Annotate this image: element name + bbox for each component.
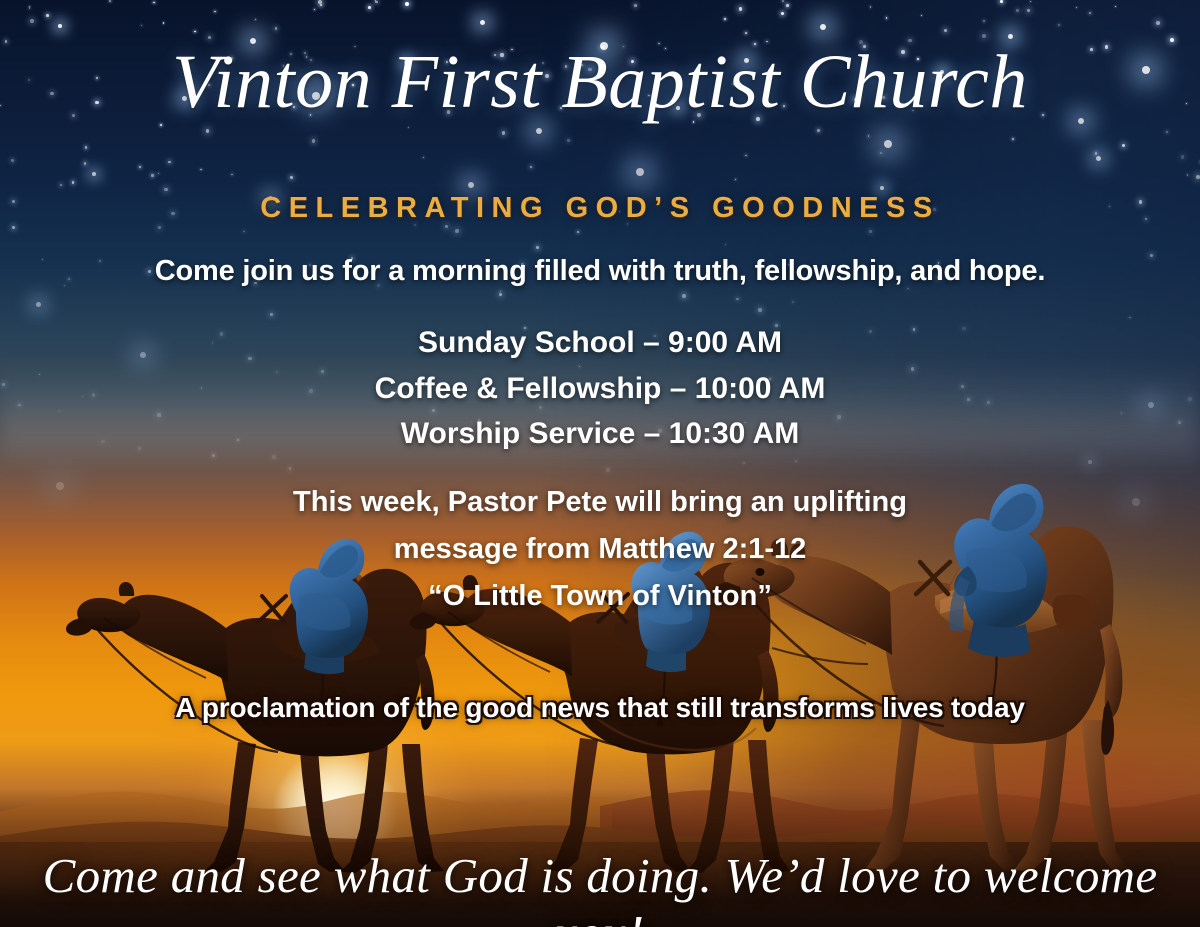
invitation-line: Come join us for a morning filled with t… xyxy=(0,255,1200,288)
church-announcement-poster: Vinton First Baptist Church CELEBRATING … xyxy=(0,0,1200,927)
proclamation-line: A proclamation of the good news that sti… xyxy=(0,692,1200,724)
schedule-item-coffee-fellowship: Coffee & Fellowship – 10:00 AM xyxy=(0,366,1200,412)
schedule-item-sunday-school: Sunday School – 9:00 AM xyxy=(0,320,1200,366)
tagline: CELEBRATING GOD’S GOODNESS xyxy=(0,192,1200,225)
sermon-line-2: message from Matthew 2:1-12 xyxy=(0,526,1200,573)
page-title: Vinton First Baptist Church xyxy=(0,44,1200,120)
poster-text-layer: Vinton First Baptist Church CELEBRATING … xyxy=(0,0,1200,927)
service-schedule: Sunday School – 9:00 AM Coffee & Fellows… xyxy=(0,320,1200,457)
sermon-title: “O Little Town of Vinton” xyxy=(0,573,1200,620)
closing-invitation: Come and see what God is doing. We’d lov… xyxy=(0,847,1200,927)
sermon-message-block: This week, Pastor Pete will bring an upl… xyxy=(0,479,1200,620)
schedule-item-worship-service: Worship Service – 10:30 AM xyxy=(0,411,1200,457)
sermon-line-1: This week, Pastor Pete will bring an upl… xyxy=(0,479,1200,526)
